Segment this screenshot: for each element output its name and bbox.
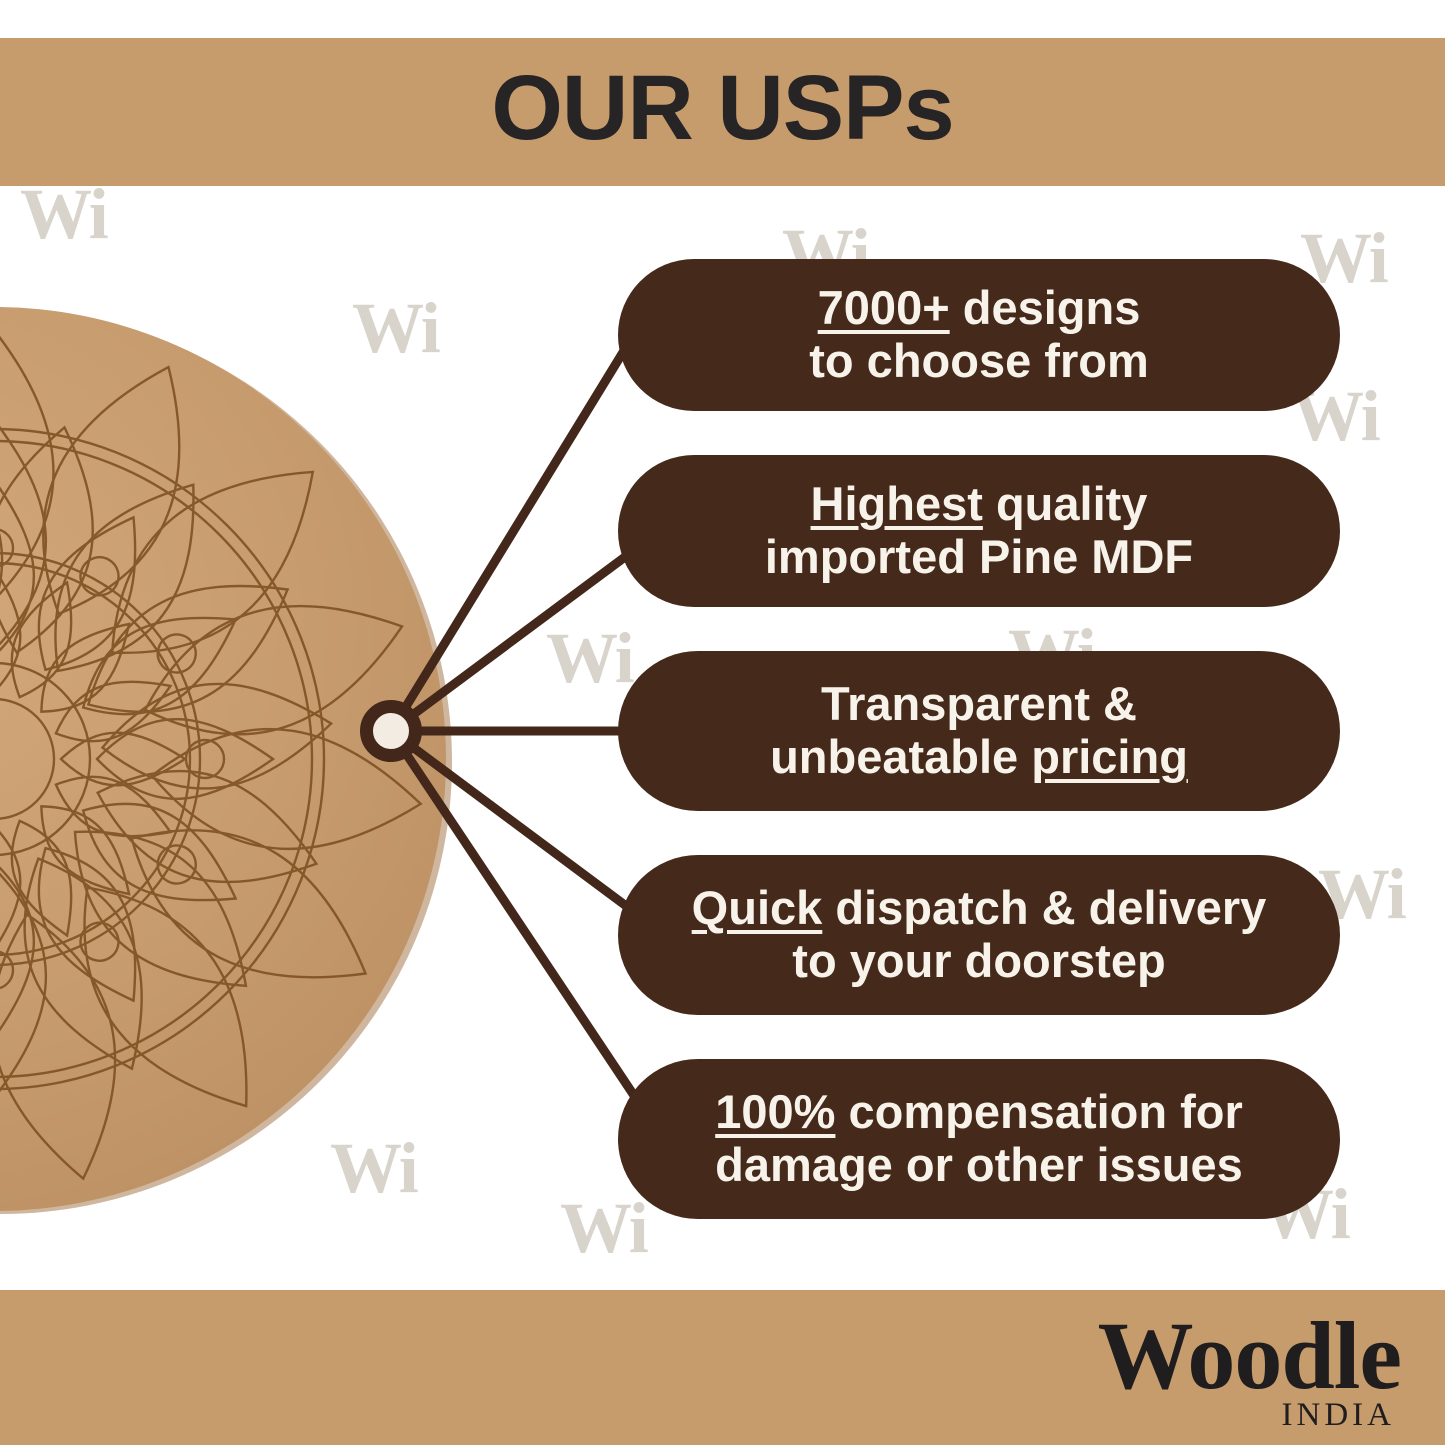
- usp-pill-text: 7000+ designs to choose from: [644, 282, 1314, 387]
- usp-pill-text: 100% compensation for damage or other is…: [644, 1086, 1314, 1191]
- usp-pill-text: Quick dispatch & delivery to your doorst…: [644, 882, 1314, 987]
- usp-pill-compensation[interactable]: 100% compensation for damage or other is…: [618, 1059, 1340, 1219]
- usp-line1-rest: designs: [950, 281, 1141, 334]
- usp-line1-rest: compensation for: [835, 1085, 1242, 1138]
- usp-pill-pricing[interactable]: Transparent & unbeatable pricing: [618, 651, 1340, 811]
- usp-line2: imported Pine MDF: [765, 530, 1193, 583]
- usp-pill-text: Highest quality imported Pine MDF: [644, 478, 1314, 583]
- usp-line1-rest: quality: [983, 477, 1148, 530]
- watermark-mark: Wi: [20, 178, 107, 250]
- usp-line1-rest: Transparent &: [821, 677, 1137, 730]
- usp-underlined-keyword: Highest: [811, 477, 983, 530]
- watermark-mark: Wi: [560, 1192, 647, 1264]
- usp-underlined-keyword: 7000+: [818, 281, 950, 334]
- page-title: OUR USPs: [0, 62, 1445, 154]
- usp-underlined-keyword: Quick: [692, 881, 823, 934]
- usp-underlined-keyword: 100%: [715, 1085, 835, 1138]
- usp-line2: damage or other issues: [715, 1138, 1243, 1191]
- usp-underlined-keyword: pricing: [1031, 730, 1188, 783]
- usp-pill-text: Transparent & unbeatable pricing: [644, 678, 1314, 783]
- usp-pill-material-quality[interactable]: Highest quality imported Pine MDF: [618, 455, 1340, 607]
- usp-line2: to choose from: [809, 334, 1148, 387]
- usp-line1-rest: dispatch & delivery: [822, 881, 1266, 934]
- infographic-canvas: Wi Wi Wi Wi Wi Wi Wi Wi Wi Wi Wi: [0, 0, 1445, 1445]
- brand-logo: Woodle INDIA: [1098, 1310, 1401, 1434]
- brand-name: Woodle: [1098, 1310, 1401, 1401]
- usp-line2: to your doorstep: [792, 934, 1165, 987]
- watermark-mark: Wi: [546, 622, 633, 694]
- usp-line2-prefix: unbeatable: [770, 730, 1031, 783]
- usp-pill-dispatch-delivery[interactable]: Quick dispatch & delivery to your doorst…: [618, 855, 1340, 1015]
- usp-pill-designs-count[interactable]: 7000+ designs to choose from: [618, 259, 1340, 411]
- usp-hub-node: [360, 700, 422, 762]
